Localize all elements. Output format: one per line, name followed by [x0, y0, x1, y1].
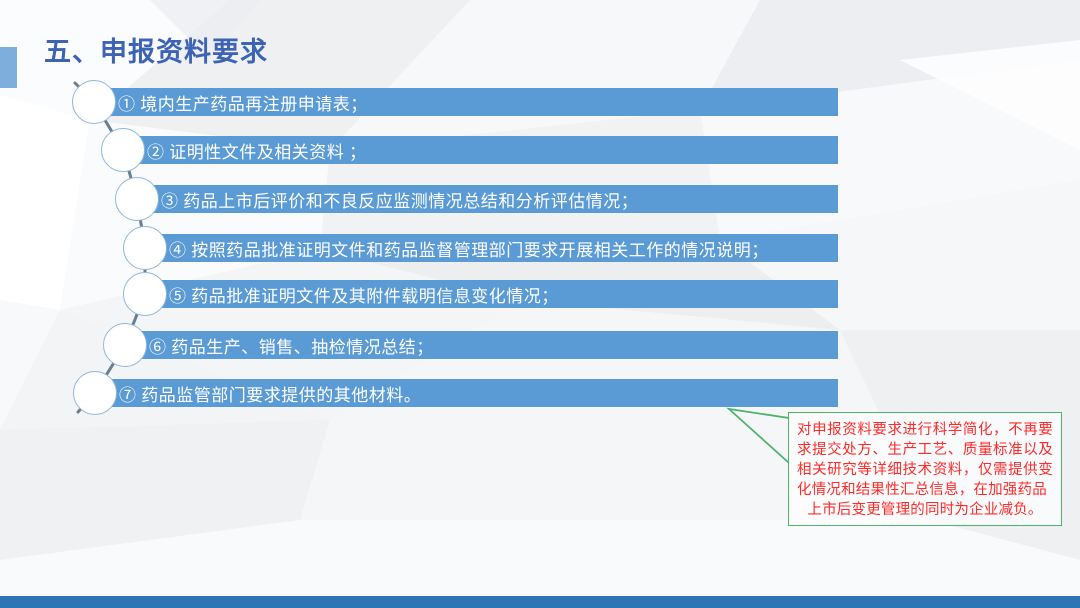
- callout-line-1: 对申报资料要求进行科学简化，不再要: [797, 422, 1053, 438]
- callout-line-4: 化情况和结果性汇总信息，在加强药品: [797, 482, 1047, 498]
- callout-line-3: 相关研究等详细技术资料，仅需提供变: [797, 462, 1053, 478]
- callout-text: 对申报资料要求进行科学简化，不再要求提交处方、生产工艺、质量标准以及相关研究等详…: [789, 413, 1061, 526]
- slide-canvas: 五、申报资料要求 ① 境内生产药品再注册申请表； ② 证明性文件及相关资料 ； …: [0, 0, 1080, 608]
- callout-box: 对申报资料要求进行科学简化，不再要求提交处方、生产工艺、质量标准以及相关研究等详…: [788, 412, 1062, 526]
- callout-line-5: 上市后变更管理的同时为企业减负。: [797, 500, 1053, 520]
- callout-line-2: 求提交处方、生产工艺、质量标准以及: [797, 442, 1053, 458]
